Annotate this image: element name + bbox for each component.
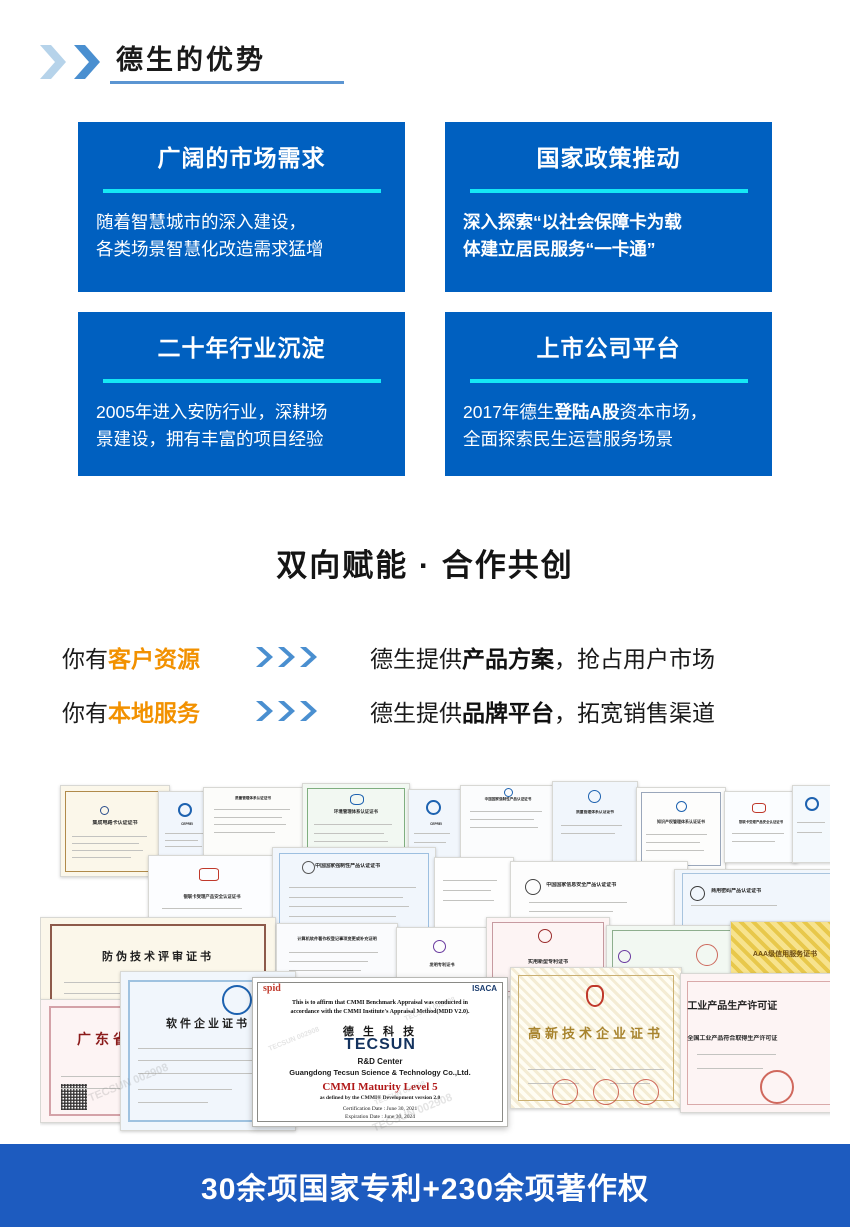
advantage-card-rule (103, 189, 381, 193)
cmmi-expiration-date: Expiration Date : June 30, 2024 (253, 1114, 507, 1120)
advantage-card-body-pre: 2017年德生 (463, 402, 554, 422)
page-root: 德生的优势 广阔的市场需求 随着智慧城市的深入建设， 各类场景智慧化改造需求猛增… (0, 0, 850, 1227)
advantage-card-body-line: 2017年德生登陆A股资本市场， (463, 399, 754, 426)
cmmi-unit: R&D Center (253, 1057, 507, 1066)
cmmi-legal-name: Guangdong Tecsun Science & Technology Co… (253, 1068, 507, 1077)
isaca-logo: ISACA (472, 984, 497, 993)
advantage-card-rule (470, 379, 748, 383)
advantage-card-body: 深入探索“以社会保障卡为载 体建立居民服务“一卡通” (461, 209, 756, 263)
certificate-title: 发明专利证书 (402, 962, 481, 968)
advantage-card-row-2: 二十年行业沉淀 2005年进入安防行业，深耕场 景建设，拥有丰富的项目经验 上市… (78, 312, 773, 476)
advantage-card-rule (470, 189, 748, 193)
certificate-title: 质量管理体系认证证书 (558, 810, 632, 816)
advantage-card-title: 国家政策推动 (461, 144, 756, 173)
advantage-card-body-line: 体建立居民服务“一卡通” (463, 236, 754, 263)
advantage-card-body-line: 2005年进入安防行业，深耕场 (96, 399, 387, 426)
synergy-right-pre: 德生提供 (370, 700, 462, 726)
certificate-thumb: 工业产品生产许可证 全国工业产品符合取得生产许可证 (680, 973, 830, 1113)
certificate-title: 质量管理体系认证证书 (210, 796, 296, 801)
certificate-title: 中国国家强制性产品认证证书 (467, 797, 550, 802)
cmmi-statement-line2: accordance with the CMMI Institute's App… (253, 1009, 507, 1015)
advantage-card-body: 随着智慧城市的深入建设， 各类场景智慧化改造需求猛增 (94, 209, 389, 263)
certificate-title: 商用密码产品认证证书 (711, 888, 829, 896)
synergy-left-highlight: 本地服务 (108, 700, 200, 726)
advantage-card-body-bold: 登陆A股 (554, 402, 619, 422)
certificate-title: 工业产品生产许可证 (687, 999, 830, 1014)
synergy-right-post: ，抢占用户市场 (554, 646, 715, 672)
certificate-title: 中国国家强制性产品认证证书 (315, 863, 428, 871)
advantage-card-body-line: 随着智慧城市的深入建设， (96, 209, 387, 236)
certificate-cmmi-level5[interactable]: spid ISACA This is to affirm that CMMI B… (252, 977, 508, 1127)
page-title: 德生的优势 (116, 38, 266, 77)
certificate-title: 中国国家信息安全产品认证证书 (546, 882, 680, 890)
certificate-title: 实用新型专利证书 (494, 959, 601, 967)
advantage-card-body-line: 各类场景智慧化改造需求猛增 (96, 236, 387, 263)
chevron-right-dark-icon (72, 44, 102, 80)
certificate-title: 银联卡受理产品安全认证证书 (729, 820, 792, 825)
synergy-left-pre: 你有 (62, 700, 108, 726)
spid-logo: spid (263, 983, 281, 994)
advantage-card-body-line: 景建设，拥有丰富的项目经验 (96, 426, 387, 453)
certificate-collage: 集成电路卡认证证书 CEPREI 质量管理体系认证证书 环境管理体系认证证书 C… (40, 777, 830, 1139)
advantage-card-body: 2017年德生登陆A股资本市场， 全面探索民生运营服务场景 (461, 399, 756, 453)
synergy-right-text: 德生提供品牌平台，拓宽销售渠道 (370, 694, 715, 728)
title-underline (110, 81, 344, 84)
cmmi-certification-date: Certification Date : June 30, 2021 (253, 1106, 507, 1112)
certificate-title: 全国工业产品符合取得生产许可证 (687, 1035, 830, 1044)
advantage-card-row-1: 广阔的市场需求 随着智慧城市的深入建设， 各类场景智慧化改造需求猛增 国家政策推… (78, 122, 773, 292)
chevron-group-icon (38, 44, 110, 80)
patent-banner-text: 30余项国家专利+230余项著作权 (201, 1164, 649, 1208)
synergy-right-bold: 品牌平台 (462, 700, 554, 726)
synergy-right-post: ，拓宽销售渠道 (554, 700, 715, 726)
certificate-title: 计算机软件著作权登记事项变更或补充证明 (284, 936, 390, 942)
tecsun-wordmark: TECSUN (253, 1036, 507, 1054)
advantage-card-industry-experience[interactable]: 二十年行业沉淀 2005年进入安防行业，深耕场 景建设，拥有丰富的项目经验 (78, 312, 405, 476)
cmmi-statement-line1: This is to affirm that CMMI Benchmark Ap… (253, 1000, 507, 1006)
synergy-heading: 双向赋能 · 合作共创 (0, 540, 850, 585)
triple-chevron-right-icon (254, 645, 318, 669)
certificate-title: 集成电路卡认证证书 (67, 820, 162, 828)
synergy-left-pre: 你有 (62, 646, 108, 672)
synergy-row-local-service: 你有本地服务 德生提供品牌平台，拓宽销售渠道 (0, 684, 850, 738)
advantage-card-market-demand[interactable]: 广阔的市场需求 随着智慧城市的深入建设， 各类场景智慧化改造需求猛增 (78, 122, 405, 292)
section-header: 德生的优势 (0, 34, 850, 94)
certificate-thumb: 质量管理体系认证证书 (552, 781, 638, 865)
advantage-card-title: 广阔的市场需求 (94, 144, 389, 173)
synergy-left-text: 你有本地服务 (62, 694, 200, 728)
advantage-card-body-line: 全面探索民生运营服务场景 (463, 426, 754, 453)
patent-banner: 30余项国家专利+230余项著作权 (0, 1144, 850, 1227)
synergy-left-text: 你有客户资源 (62, 640, 200, 674)
certificate-thumb: 银联卡受理产品安全认证证书 (724, 791, 798, 863)
synergy-right-pre: 德生提供 (370, 646, 462, 672)
advantage-card-body-post: 资本市场， (620, 402, 708, 422)
certificate-title: 银联卡受理产品安全认证证书 (157, 894, 268, 901)
advantage-card-body: 2005年进入安防行业，深耕场 景建设，拥有丰富的项目经验 (94, 399, 389, 453)
advantage-card-grid: 广阔的市场需求 随着智慧城市的深入建设， 各类场景智慧化改造需求猛增 国家政策推… (78, 122, 773, 496)
certificate-thumb: 知识产权管理体系认证证书 (636, 787, 726, 871)
cmmi-award-level: CMMI Maturity Level 5 (253, 1081, 507, 1093)
advantage-card-body-line: 深入探索“以社会保障卡为载 (463, 209, 754, 236)
certificate-title: 高新技术企业证书 (521, 1024, 671, 1044)
advantage-card-national-policy[interactable]: 国家政策推动 深入探索“以社会保障卡为载 体建立居民服务“一卡通” (445, 122, 772, 292)
triple-chevron-right-icon (254, 699, 318, 723)
certificate-thumb (792, 785, 830, 863)
certificate-title: 环境管理体系认证证书 (309, 809, 402, 816)
synergy-right-text: 德生提供产品方案，抢占用户市场 (370, 640, 715, 674)
synergy-rows: 你有客户资源 德生提供产品方案，抢占用户市场 你有本地服务 德生提供品牌平台，拓… (0, 630, 850, 738)
certificate-thumb: 高新技术企业证书 (510, 967, 682, 1109)
chevron-right-light-icon (38, 44, 68, 80)
advantage-card-listed-company[interactable]: 上市公司平台 2017年德生登陆A股资本市场， 全面探索民生运营服务场景 (445, 312, 772, 476)
synergy-row-customer-resource: 你有客户资源 德生提供产品方案，抢占用户市场 (0, 630, 850, 684)
certificate-title: 知识产权管理体系认证证书 (642, 819, 719, 825)
certificate-badge: CEPREI (412, 822, 460, 827)
certificate-thumb: 中国国家强制性产品认证证书 (460, 785, 556, 865)
advantage-card-title: 二十年行业沉淀 (94, 334, 389, 363)
synergy-right-bold: 产品方案 (462, 646, 554, 672)
advantage-card-rule (103, 379, 381, 383)
synergy-left-highlight: 客户资源 (108, 646, 200, 672)
certificate-title: 防伪技术评审证书 (55, 949, 261, 966)
cmmi-standard: as defined by the CMMI® Development vers… (253, 1095, 507, 1101)
advantage-card-title: 上市公司平台 (461, 334, 756, 363)
certificate-title: AAA级信用服务证书 (737, 950, 830, 961)
